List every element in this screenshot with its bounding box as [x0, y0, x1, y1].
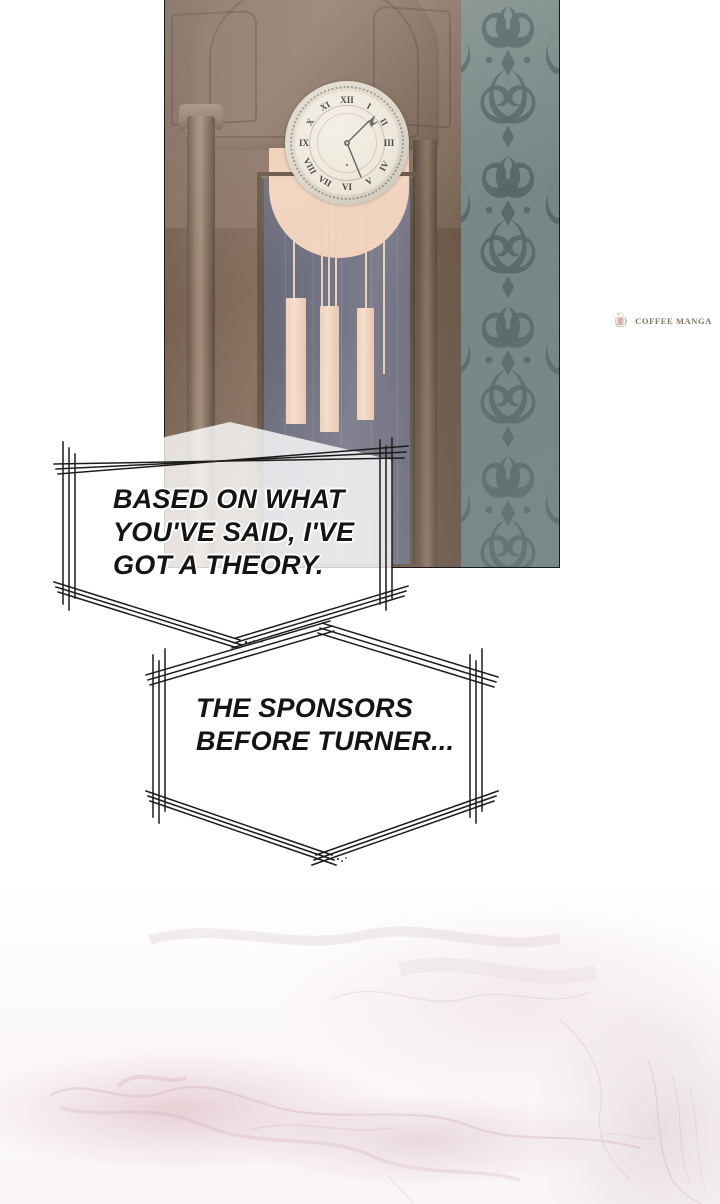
svg-text:VI: VI: [342, 182, 352, 192]
clock-hand-hour: [347, 121, 369, 143]
svg-text:II: II: [378, 116, 390, 127]
marble-vein-overlay: [0, 880, 720, 1204]
coffee-manga-watermark: COFFEE MANGA: [612, 304, 712, 337]
clock-numerals-and-hands: XII I II III IV V VI VII VIII IX X XI: [285, 81, 409, 205]
svg-text:XI: XI: [318, 99, 332, 113]
svg-text:X: X: [304, 116, 316, 127]
speech-bubble-sponsors-text: THE SPONSORS BEFORE TURNER...: [196, 692, 496, 758]
comic-page: XII I II III IV V VI VII VIII IX X XI: [0, 0, 720, 1204]
svg-text:VII: VII: [317, 173, 334, 189]
svg-text:III: III: [384, 138, 395, 148]
svg-text:IV: IV: [377, 159, 391, 173]
clock-hand-minute: [347, 143, 361, 177]
speech-bubble-theory-text: BASED ON WHAT YOU'VE SAID, I'VE GOT A TH…: [113, 483, 393, 582]
watermark-label: COFFEE MANGA: [635, 316, 712, 326]
svg-text:I: I: [365, 101, 373, 112]
svg-text:VIII: VIII: [301, 156, 318, 176]
coffee-cup-with-books-icon: [612, 306, 631, 336]
svg-text:V: V: [364, 175, 375, 187]
svg-text:IX: IX: [299, 138, 310, 148]
svg-text:XII: XII: [340, 95, 354, 105]
